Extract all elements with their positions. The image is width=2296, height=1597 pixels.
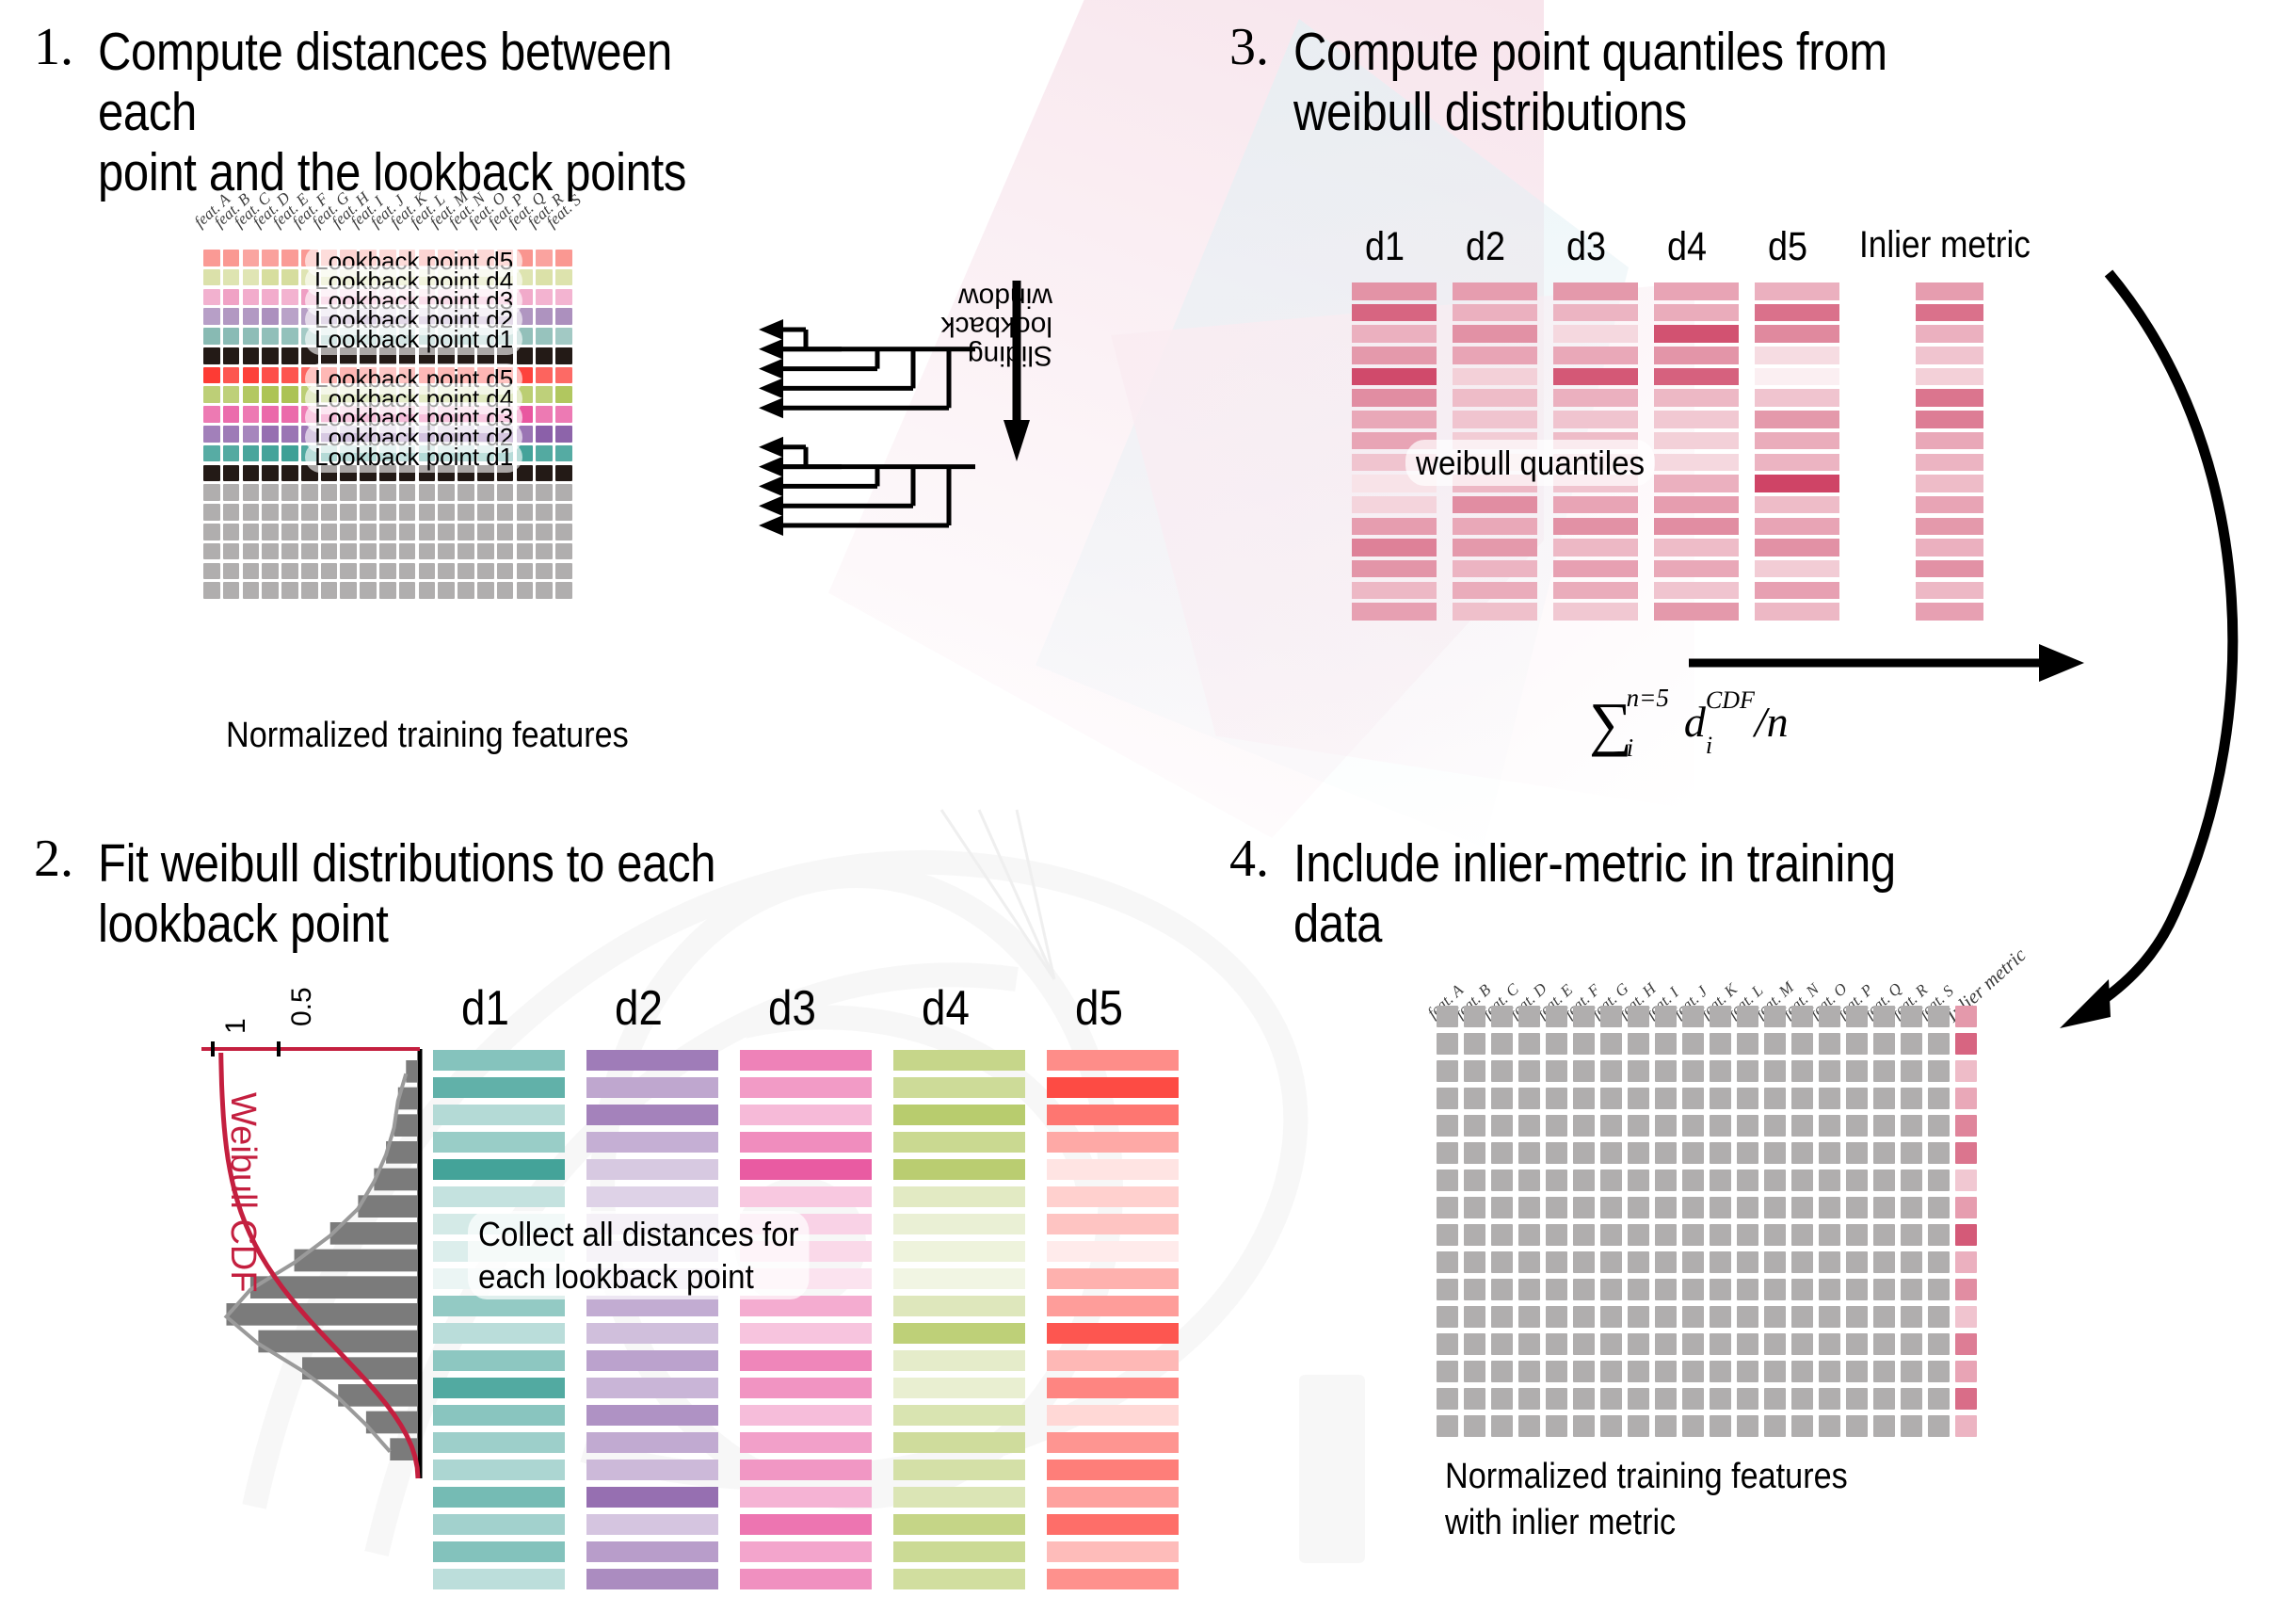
step1-matrix-cell (536, 582, 553, 599)
step4-matrix-cell (1464, 1333, 1485, 1355)
step4-matrix-cell (1491, 1224, 1513, 1246)
step4-matrix-cell (1819, 1142, 1840, 1164)
step2-distance-column (893, 1050, 1025, 1596)
step4-matrix-cell (1600, 1361, 1622, 1382)
step4-matrix-cell (1600, 1088, 1622, 1109)
step2-distance-cell (740, 1514, 872, 1535)
step3-quantile-cell (1654, 496, 1739, 514)
step1-matrix-cell (243, 445, 260, 462)
step1-matrix-cell (517, 504, 534, 521)
step1-matrix-cell (223, 524, 240, 540)
step4-inlier-metric-cell (1955, 1142, 1977, 1164)
step4-matrix-cell (1546, 1197, 1567, 1218)
step2-distance-cell (586, 1350, 718, 1371)
step2-distance-cell (1047, 1323, 1179, 1344)
step4-matrix-cell (1764, 1197, 1786, 1218)
step4-matrix-cell (1682, 1279, 1704, 1300)
step4-matrix-cell (1846, 1170, 1868, 1191)
step2-distance-cell (740, 1432, 872, 1453)
step3-quantile-cell (1553, 282, 1638, 300)
step1-matrix-cell (281, 386, 298, 403)
step1-matrix-cell (281, 504, 298, 521)
step4-matrix-cell (1928, 1306, 1950, 1328)
step2-distance-cell (433, 1159, 565, 1180)
step1-matrix-cell (555, 347, 572, 364)
step4-matrix-cell (1573, 1170, 1595, 1191)
step4-matrix-cell (1655, 1088, 1677, 1109)
step1-matrix-cell (536, 504, 553, 521)
step4-matrix-cell (1682, 1115, 1704, 1137)
step4-matrix-cell (1737, 1115, 1758, 1137)
step4-matrix-cell (1846, 1060, 1868, 1082)
step1-matrix-cell (399, 543, 416, 560)
step1-matrix-cell (243, 543, 260, 560)
step1-matrix-cell (301, 484, 318, 501)
step2-distance-cell (1047, 1432, 1179, 1453)
step3-quantile-cell (1553, 368, 1638, 386)
step4-matrix-cell (1437, 1142, 1458, 1164)
step4-matrix-cell (1655, 1142, 1677, 1164)
step3-quantile-cell (1755, 603, 1839, 621)
step1-matrix-cell (419, 484, 436, 501)
step4-matrix-cell (1518, 1279, 1540, 1300)
step4-bottom-caption-line-1: Normalized training features (1445, 1454, 1848, 1500)
step3-quantile-cell (1453, 347, 1537, 364)
step3-quantile-cell (1553, 518, 1638, 536)
step2-distance-cell (586, 1105, 718, 1125)
step4-inlier-metric-cell (1955, 1170, 1977, 1191)
step3-quantile-cell (1352, 282, 1437, 300)
weibull-cdf-plot (185, 1036, 429, 1478)
step1-matrix-cell (223, 484, 240, 501)
step2-distance-column (1047, 1050, 1179, 1596)
step1-matrix-row (203, 582, 575, 602)
step4-matrix-cell (1518, 1388, 1540, 1410)
step4-matrix-cell (1682, 1361, 1704, 1382)
step4-matrix-row (1437, 1115, 1977, 1142)
step4-matrix-cell (1928, 1088, 1950, 1109)
step4-matrix-cell (1764, 1142, 1786, 1164)
step3-inlier-metric-cell (1916, 389, 1983, 407)
step4-matrix-cell (1791, 1415, 1813, 1437)
step4-matrix-cell (1573, 1115, 1595, 1137)
step4-matrix-cell (1764, 1006, 1786, 1027)
step1-matrix-cell (321, 504, 338, 521)
step1-matrix-row (203, 543, 575, 563)
step1-matrix-cell (223, 308, 240, 325)
step4-matrix-cell (1710, 1115, 1731, 1137)
step4-matrix-cell (1573, 1224, 1595, 1246)
step4-matrix-cell (1873, 1197, 1895, 1218)
step4-matrix-cell (1628, 1006, 1649, 1027)
step1-matrix-cell (536, 524, 553, 540)
step1-matrix-cell (281, 426, 298, 443)
step4-matrix-cell (1655, 1333, 1677, 1355)
step1-matrix-cell (517, 563, 534, 580)
step4-matrix-cell (1873, 1224, 1895, 1246)
step4-matrix-cell (1573, 1306, 1595, 1328)
step3-quantile-cell (1654, 325, 1739, 343)
step2-fan-lines (941, 810, 1064, 998)
step4-matrix-cell (1928, 1060, 1950, 1082)
step1-matrix-cell (262, 504, 279, 521)
step4-matrix-cell (1628, 1142, 1649, 1164)
step4-matrix-cell (1437, 1251, 1458, 1273)
step4-matrix-cell (1464, 1251, 1485, 1273)
step1-matrix-cell (243, 289, 260, 306)
step4-matrix-cell (1682, 1142, 1704, 1164)
step4-matrix-cell (1819, 1388, 1840, 1410)
step3-inlier-metric-cell (1916, 304, 1983, 322)
step-3-title-line-1: Compute point quantiles from (1293, 23, 2006, 83)
step4-matrix-cell (1710, 1251, 1731, 1273)
step1-matrix-cell (262, 289, 279, 306)
step1-matrix-cell (262, 250, 279, 266)
step1-matrix-cell (281, 465, 298, 482)
step4-matrix-cell (1846, 1333, 1868, 1355)
step1-matrix-cell (497, 524, 514, 540)
step4-matrix-cell (1737, 1306, 1758, 1328)
step3-quantile-cell (1352, 304, 1437, 322)
step2-distance-cell (740, 1460, 872, 1480)
step4-matrix-cell (1737, 1006, 1758, 1027)
step1-matrix-cell (281, 445, 298, 462)
cdf-tick-0-5: 0.5 (286, 987, 318, 1026)
step2-distance-cell (893, 1159, 1025, 1180)
step1-matrix-cell (301, 524, 318, 540)
step3-quantile-cell (1654, 475, 1739, 492)
step4-matrix-cell (1600, 1060, 1622, 1082)
step3-column-label: d2 (1466, 224, 1505, 270)
step1-matrix-cell (243, 250, 260, 266)
step1-matrix-cell (262, 347, 279, 364)
step4-matrix-cell (1573, 1197, 1595, 1218)
step4-matrix-row (1437, 1006, 1977, 1033)
step4-matrix-cell (1710, 1142, 1731, 1164)
weibull-cdf-axis-label: Weibull CDF (222, 1092, 263, 1293)
step4-matrix-cell (1819, 1088, 1840, 1109)
step4-matrix-cell (1546, 1115, 1567, 1137)
step4-matrix-cell (1464, 1170, 1485, 1191)
step1-matrix-cell (281, 582, 298, 599)
step4-inlier-metric-cell (1955, 1361, 1977, 1382)
step1-matrix-cell (517, 543, 534, 560)
step-2-title-line-1: Fit weibull distributions to each (98, 834, 795, 895)
step4-matrix-cell (1573, 1361, 1595, 1382)
step1-lookback-row-label: Lookback point d1 (305, 442, 522, 473)
step1-matrix-cell (555, 328, 572, 345)
step1-matrix-cell (243, 465, 260, 482)
step4-matrix-cell (1546, 1224, 1567, 1246)
step3-quantile-column (1654, 282, 1739, 624)
step1-matrix-cell (458, 524, 474, 540)
step2-distance-cell (1047, 1541, 1179, 1562)
step2-distance-cell (433, 1132, 565, 1153)
step1-matrix-cell (517, 465, 534, 482)
step2-distance-cell (740, 1132, 872, 1153)
cdf-tick-1: 1 (220, 1018, 252, 1034)
step1-matrix-cell (262, 484, 279, 501)
step3-quantile-cell (1453, 411, 1537, 428)
step4-matrix-cell (1901, 1224, 1922, 1246)
step4-matrix-cell (1546, 1006, 1567, 1027)
step2-distance-cell (1047, 1296, 1179, 1316)
step4-matrix-cell (1655, 1170, 1677, 1191)
step4-matrix-cell (1846, 1251, 1868, 1273)
step2-distance-cell (893, 1241, 1025, 1262)
step2-distance-cell (586, 1541, 718, 1562)
step1-matrix-cell (301, 582, 318, 599)
step3-inlier-metric-cell (1916, 603, 1983, 621)
step1-matrix-cell (223, 250, 240, 266)
step1-matrix-cell (223, 347, 240, 364)
step1-matrix-cell (438, 524, 455, 540)
step3-quantile-cell (1453, 389, 1537, 407)
step3-quantile-cell (1352, 539, 1437, 557)
step1-matrix-cell (517, 347, 534, 364)
step1-matrix-cell (360, 563, 377, 580)
step4-matrix-cell (1437, 1088, 1458, 1109)
step3-quantile-cell (1453, 282, 1537, 300)
step2-distance-cell (586, 1132, 718, 1153)
step2-distance-cell (586, 1405, 718, 1426)
step2-distance-cell (433, 1350, 565, 1371)
step3-quantile-cell (1352, 582, 1437, 600)
step2-distance-column (433, 1050, 565, 1596)
step4-matrix-cell (1873, 1279, 1895, 1300)
step2-overlay-note-line-1: Collect all distances for (478, 1213, 799, 1255)
step3-quantile-cell (1553, 411, 1638, 428)
step1-matrix-cell (517, 582, 534, 599)
step4-matrix-cell (1901, 1006, 1922, 1027)
step2-distance-cell (1047, 1159, 1179, 1180)
step4-matrix-cell (1464, 1033, 1485, 1055)
step1-matrix-cell (458, 504, 474, 521)
step1-matrix-cell (555, 426, 572, 443)
step3-inlier-metric-cell (1916, 411, 1983, 428)
step1-matrix-cell (477, 504, 494, 521)
step1-matrix-cell (203, 386, 220, 403)
step1-matrix-cell (223, 367, 240, 384)
step2-distance-cell (433, 1050, 565, 1071)
step1-matrix-row (203, 524, 575, 543)
step2-distance-cell (893, 1432, 1025, 1453)
step3-quantile-cell (1352, 389, 1437, 407)
step2-column-label: d3 (768, 980, 816, 1037)
step4-matrix-cell (1437, 1333, 1458, 1355)
step4-matrix-cell (1682, 1388, 1704, 1410)
step4-matrix-cell (1655, 1279, 1677, 1300)
step2-distance-cell (586, 1487, 718, 1508)
step4-matrix-cell (1491, 1033, 1513, 1055)
step1-matrix-cell (281, 484, 298, 501)
step2-distance-cell (586, 1186, 718, 1207)
step1-matrix-cell (281, 347, 298, 364)
step1-matrix-cell (203, 504, 220, 521)
step4-matrix-cell (1655, 1033, 1677, 1055)
step4-matrix-cell (1518, 1197, 1540, 1218)
step4-matrix-cell (1873, 1306, 1895, 1328)
step4-matrix-cell (1600, 1388, 1622, 1410)
step1-matrix-row (203, 504, 575, 524)
step4-matrix-cell (1928, 1006, 1950, 1027)
step2-distance-cell (1047, 1050, 1179, 1071)
step2-distance-cell (893, 1323, 1025, 1344)
step-1-title-line-1: Compute distances between each (98, 23, 770, 143)
step4-matrix-cell (1846, 1115, 1868, 1137)
step4-inlier-metric-cell (1955, 1197, 1977, 1218)
sliding-window-line-2: lookback (941, 311, 1052, 342)
step1-matrix-cell (360, 582, 377, 599)
step4-matrix-cell (1873, 1033, 1895, 1055)
formula-superscript: CDF (1706, 688, 1755, 713)
step4-matrix-cell (1710, 1361, 1731, 1382)
step4-matrix-cell (1573, 1142, 1595, 1164)
step4-matrix-cell (1710, 1170, 1731, 1191)
step3-quantile-cell (1654, 389, 1739, 407)
step2-distance-cell (1047, 1378, 1179, 1398)
step1-matrix-cell (399, 524, 416, 540)
step2-distance-cell (586, 1050, 718, 1071)
step4-matrix-cell (1764, 1088, 1786, 1109)
step4-matrix-cell (1628, 1415, 1649, 1437)
step3-quantile-cell (1654, 518, 1739, 536)
step4-matrix-cell (1873, 1006, 1895, 1027)
step3-quantile-cell (1755, 368, 1839, 386)
step1-matrix-cell (555, 504, 572, 521)
step4-matrix-cell (1600, 1197, 1622, 1218)
step4-matrix-cell (1437, 1170, 1458, 1191)
step2-distance-cell (893, 1514, 1025, 1535)
step4-matrix-cell (1710, 1415, 1731, 1437)
step4-matrix-cell (1737, 1251, 1758, 1273)
step4-matrix-row (1437, 1251, 1977, 1279)
step1-matrix-cell (399, 484, 416, 501)
step2-distance-cell (1047, 1350, 1179, 1371)
step1-matrix-cell (262, 269, 279, 286)
step1-matrix-cell (555, 543, 572, 560)
step4-matrix-cell (1546, 1142, 1567, 1164)
step4-inlier-metric-cell (1955, 1006, 1977, 1027)
formula-d: d (1684, 698, 1706, 746)
step4-matrix-cell (1819, 1251, 1840, 1273)
step-4-title-line-2: data (1293, 895, 2022, 955)
step2-distance-cell (433, 1323, 565, 1344)
step2-distance-cell (740, 1050, 872, 1071)
step1-matrix-cell (203, 367, 220, 384)
step1-matrix-cell (438, 543, 455, 560)
step2-distance-cell (893, 1487, 1025, 1508)
step4-matrix-cell (1791, 1088, 1813, 1109)
step1-matrix-cell (203, 289, 220, 306)
step4-inlier-metric-cell (1955, 1333, 1977, 1355)
step4-matrix-cell (1737, 1224, 1758, 1246)
step4-matrix-cell (1573, 1415, 1595, 1437)
step1-matrix-cell (360, 504, 377, 521)
step1-matrix-cell (262, 367, 279, 384)
step3-quantile-cell (1755, 560, 1839, 578)
step2-distance-cell (586, 1378, 718, 1398)
step4-matrix-cell (1846, 1279, 1868, 1300)
step4-matrix-cell (1600, 1224, 1622, 1246)
step2-distance-cell (893, 1050, 1025, 1071)
step2-column-label: d5 (1075, 980, 1123, 1037)
step4-matrix-cell (1873, 1388, 1895, 1410)
step3-formula: ∑ n=5 i d CDF i /n (1589, 682, 1789, 751)
step4-matrix-cell (1737, 1388, 1758, 1410)
step1-matrix-cell (399, 563, 416, 580)
step4-matrix-cell (1491, 1361, 1513, 1382)
step2-distance-cell (893, 1132, 1025, 1153)
step1-matrix-cell (555, 445, 572, 462)
step4-matrix-cell (1546, 1415, 1567, 1437)
step4-matrix-row (1437, 1224, 1977, 1251)
step4-matrix-cell (1873, 1142, 1895, 1164)
step4-matrix-cell (1546, 1170, 1567, 1191)
step2-distance-cell (740, 1405, 872, 1426)
step4-matrix-cell (1600, 1142, 1622, 1164)
step2-distance-cell (1047, 1214, 1179, 1234)
step1-matrix-cell (243, 328, 260, 345)
step1-matrix-cell (243, 426, 260, 443)
step4-matrix-cell (1791, 1333, 1813, 1355)
step1-matrix-cell (419, 582, 436, 599)
step4-inlier-metric-cell (1955, 1388, 1977, 1410)
step1-matrix-cell (555, 250, 572, 266)
step1-matrix-cell (321, 582, 338, 599)
step3-quantile-cell (1553, 496, 1638, 514)
step1-matrix-cell (262, 445, 279, 462)
step4-matrix-cell (1518, 1333, 1540, 1355)
step4-matrix-cell (1846, 1088, 1868, 1109)
step4-matrix-cell (1491, 1170, 1513, 1191)
step4-matrix-cell (1518, 1361, 1540, 1382)
step4-matrix-cell (1546, 1279, 1567, 1300)
step2-distance-cell (433, 1432, 565, 1453)
step4-matrix-cell (1628, 1361, 1649, 1382)
step3-quantile-cell (1352, 560, 1437, 578)
step1-matrix-cell (223, 563, 240, 580)
step1-matrix-row (203, 563, 575, 583)
step4-matrix-cell (1791, 1115, 1813, 1137)
step4-matrix-cell (1628, 1197, 1649, 1218)
step4-matrix-cell (1873, 1251, 1895, 1273)
step1-matrix-cell (438, 582, 455, 599)
step4-matrix-cell (1546, 1306, 1567, 1328)
step4-matrix-row (1437, 1197, 1977, 1224)
step4-matrix-cell (1710, 1197, 1731, 1218)
step2-distance-cell (1047, 1487, 1179, 1508)
step2-distance-cell (740, 1105, 872, 1125)
step4-matrix-cell (1628, 1060, 1649, 1082)
step1-matrix-cell (203, 269, 220, 286)
step1-matrix-cell (419, 524, 436, 540)
step1-matrix-cell (340, 484, 357, 501)
step4-matrix-row (1437, 1415, 1977, 1443)
step4-matrix-cell (1710, 1006, 1731, 1027)
step4-matrix-cell (1437, 1197, 1458, 1218)
step1-matrix-cell (497, 543, 514, 560)
step4-matrix-cell (1901, 1388, 1922, 1410)
step1-matrix-cell (340, 563, 357, 580)
step2-distance-cell (586, 1432, 718, 1453)
step1-matrix-cell (536, 308, 553, 325)
step4-matrix-cell (1710, 1060, 1731, 1082)
step4-matrix-cell (1573, 1388, 1595, 1410)
step4-matrix-cell (1655, 1251, 1677, 1273)
step3-quantile-cell (1755, 454, 1839, 472)
step3-quantile-cell (1654, 454, 1739, 472)
